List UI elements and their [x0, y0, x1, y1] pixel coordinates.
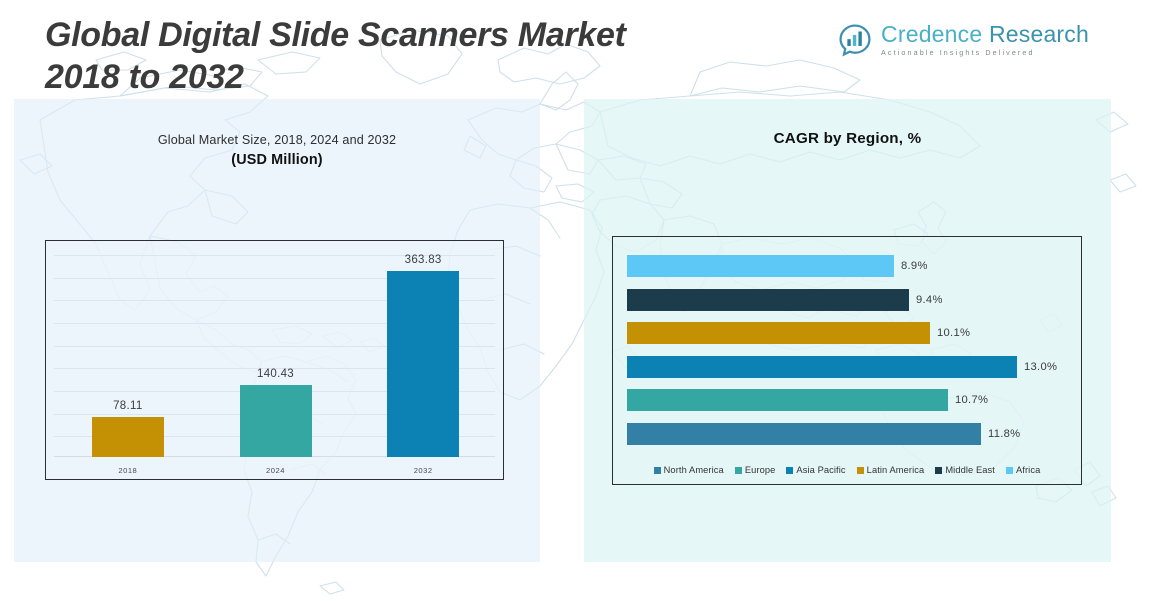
market-size-chart: 78.112018140.432024363.832032 [45, 240, 504, 480]
bar [627, 389, 948, 411]
legend-label: Middle East [945, 465, 995, 475]
cagr-bar-row: 9.4% [627, 289, 943, 311]
bar-value-label: 8.9% [901, 260, 928, 272]
bar [627, 423, 981, 445]
cagr-bar-row: 10.1% [627, 322, 970, 344]
legend-swatch [1006, 467, 1013, 474]
speech-bubble-bar-chart-icon [838, 23, 872, 57]
legend-label: Africa [1016, 465, 1040, 475]
left-panel-heading: Global Market Size, 2018, 2024 and 2032 … [14, 133, 540, 168]
bar-value-label: 10.1% [937, 327, 970, 339]
bar [387, 271, 459, 457]
logo-tagline: Actionable Insights Delivered [881, 48, 1089, 57]
left-panel-unit-label: (USD Million) [14, 152, 540, 168]
logo-name-primary: Credence [881, 21, 982, 47]
logo-text: Credence Research Actionable Insights De… [881, 22, 1089, 57]
bar [627, 322, 930, 344]
infographic-root: Global Digital Slide Scanners Market 201… [0, 0, 1155, 601]
page-title: Global Digital Slide Scanners Market 201… [45, 14, 626, 98]
cagr-bar-row: 8.9% [627, 255, 928, 277]
legend-swatch [735, 467, 742, 474]
bar [627, 255, 894, 277]
legend-item[interactable]: Europe [735, 465, 776, 475]
legend-label: Asia Pacific [796, 465, 845, 475]
logo-name-secondary: Research [982, 21, 1089, 47]
x-axis-tick-label: 2018 [58, 466, 198, 475]
legend-item[interactable]: Africa [1006, 465, 1040, 475]
legend-label: Europe [745, 465, 776, 475]
logo-name: Credence Research [881, 22, 1089, 46]
cagr-bar-row: 10.7% [627, 389, 988, 411]
bar-column [387, 271, 459, 457]
bar [92, 417, 164, 457]
bar-column [92, 417, 164, 457]
bar-value-label: 13.0% [1024, 361, 1057, 373]
right-panel-heading: CAGR by Region, % [584, 130, 1111, 147]
legend-label: North America [664, 465, 724, 475]
bar-value-label: 10.7% [955, 394, 988, 406]
bar-value-label: 11.8% [988, 428, 1020, 440]
legend-swatch [786, 467, 793, 474]
legend-item[interactable]: Middle East [935, 465, 995, 475]
x-axis-tick-label: 2032 [353, 466, 493, 475]
right-panel-title: CAGR by Region, % [584, 130, 1111, 147]
brand-logo: Credence Research Actionable Insights De… [838, 22, 1089, 57]
legend-item[interactable]: Asia Pacific [786, 465, 845, 475]
legend-item[interactable]: Latin America [857, 465, 925, 475]
bar-value-label: 140.43 [206, 368, 346, 380]
legend-item[interactable]: North America [654, 465, 724, 475]
legend-label: Latin America [867, 465, 925, 475]
chart-legend: North AmericaEuropeAsia PacificLatin Ame… [613, 465, 1081, 475]
bar-value-label: 9.4% [916, 294, 943, 306]
cagr-bar-row: 13.0% [627, 356, 1057, 378]
bar [627, 289, 909, 311]
left-panel-subtitle: Global Market Size, 2018, 2024 and 2032 [14, 133, 540, 147]
bar-value-label: 78.11 [58, 400, 198, 412]
bar [627, 356, 1017, 378]
vertical-bars-plot: 78.112018140.432024363.832032 [46, 241, 503, 479]
bar-column [240, 385, 312, 457]
cagr-by-region-chart: 8.9%9.4%10.1%13.0%10.7%11.8% North Ameri… [612, 236, 1082, 485]
bar [240, 385, 312, 457]
legend-swatch [935, 467, 942, 474]
legend-swatch [654, 467, 661, 474]
cagr-bar-row: 11.8% [627, 423, 1020, 445]
x-axis-tick-label: 2024 [206, 466, 346, 475]
bar-value-label: 363.83 [353, 254, 493, 266]
legend-swatch [857, 467, 864, 474]
